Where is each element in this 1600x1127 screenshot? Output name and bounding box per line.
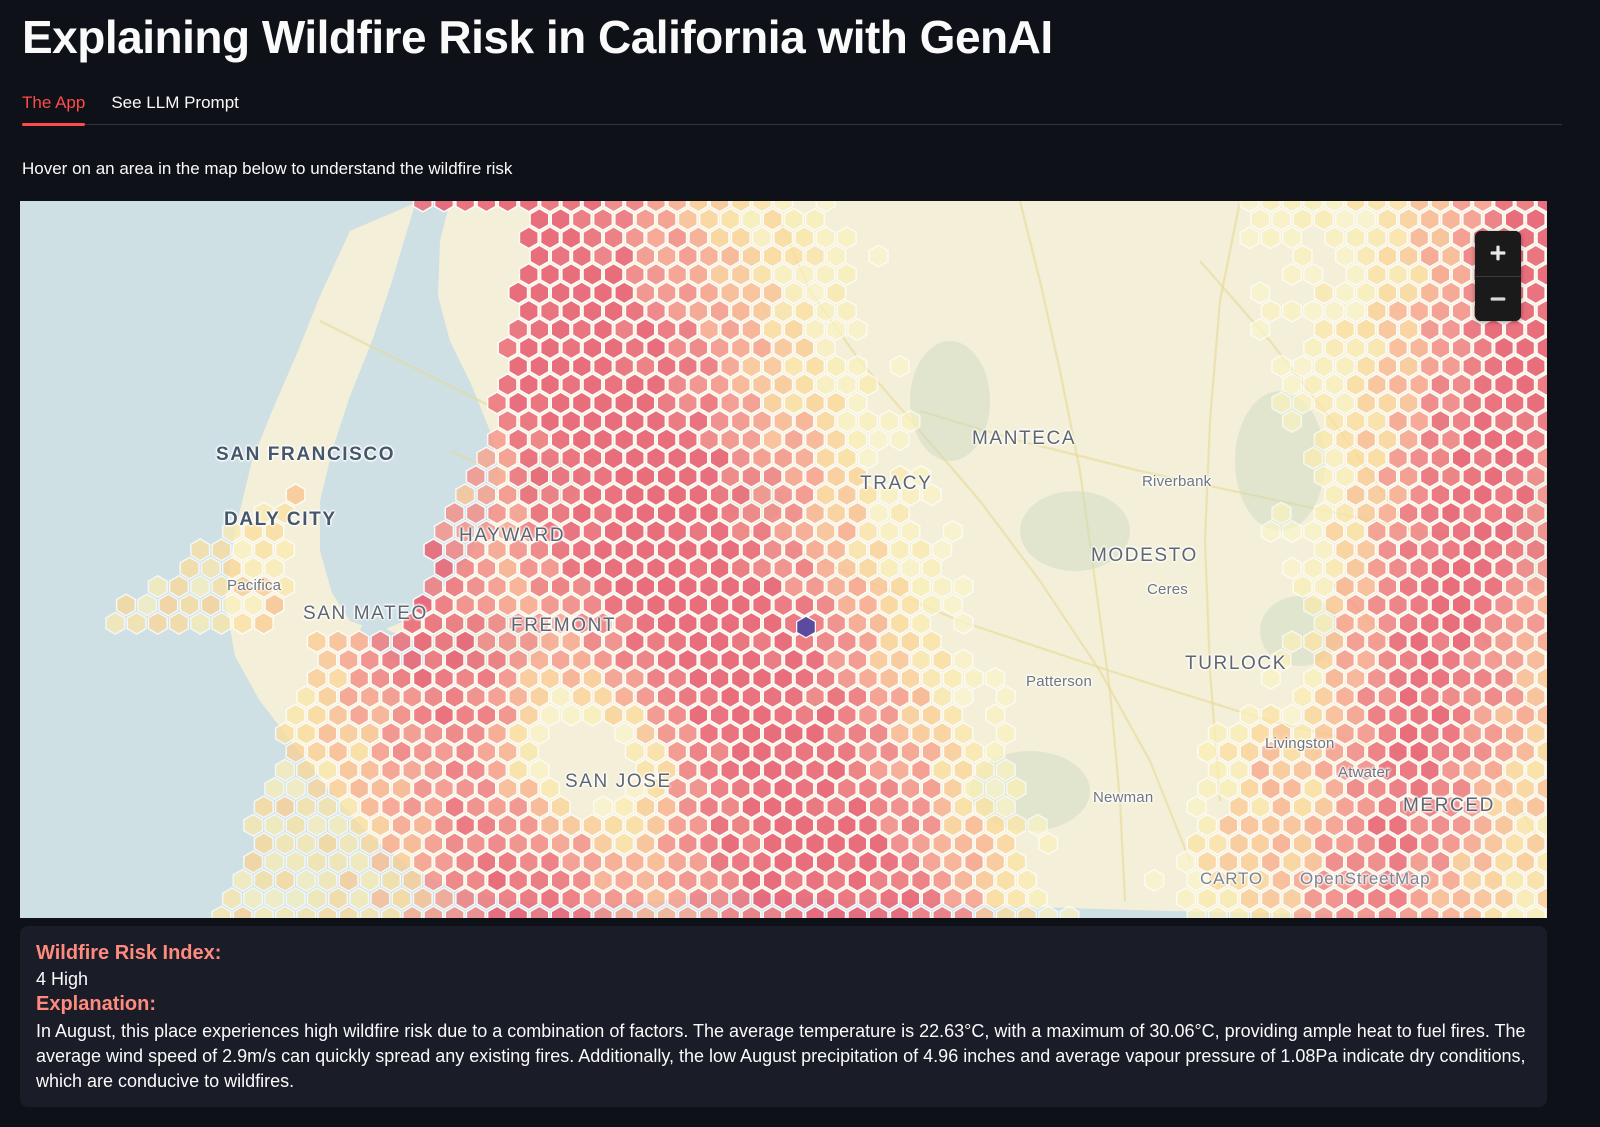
risk-result-panel: Wildfire Risk Index: 4 High Explanation:… bbox=[20, 926, 1547, 1108]
plus-icon bbox=[1488, 243, 1508, 263]
page-title: Explaining Wildfire Risk in California w… bbox=[22, 0, 1580, 63]
wildfire-risk-map[interactable]: SAN FRANCISCODALY CITYPacificaSAN MATEOH… bbox=[20, 201, 1547, 918]
app-root: Explaining Wildfire Risk in California w… bbox=[0, 0, 1600, 1127]
zoom-in-button[interactable] bbox=[1475, 231, 1521, 276]
selected-hexagon bbox=[797, 616, 816, 638]
tab-see-llm-prompt[interactable]: See LLM Prompt bbox=[111, 94, 239, 125]
tab-the-app[interactable]: The App bbox=[22, 94, 85, 125]
map-zoom-controls[interactable] bbox=[1475, 231, 1521, 321]
minus-icon bbox=[1488, 289, 1508, 309]
zoom-out-button[interactable] bbox=[1475, 276, 1521, 321]
risk-index-label: Wildfire Risk Index: bbox=[36, 940, 1531, 967]
hover-hint-text: Hover on an area in the map below to und… bbox=[22, 159, 1580, 179]
tab-bar: The App See LLM Prompt bbox=[22, 85, 1580, 125]
explanation-text: In August, this place experiences high w… bbox=[36, 1019, 1531, 1093]
explanation-label: Explanation: bbox=[36, 991, 1531, 1018]
map-canvas[interactable] bbox=[20, 201, 1547, 918]
risk-index-value: 4 High bbox=[36, 967, 1531, 991]
